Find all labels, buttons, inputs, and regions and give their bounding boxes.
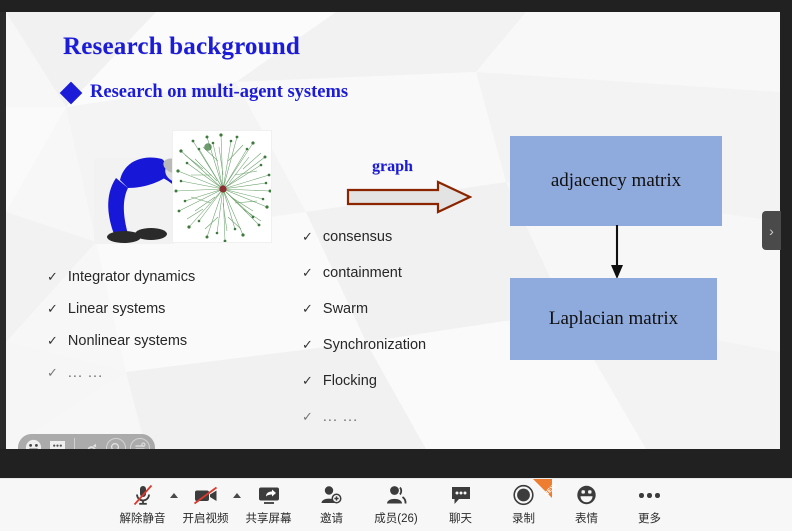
check-icon: ✓	[47, 302, 58, 317]
next-panel-chevron-icon[interactable]: ›	[762, 211, 781, 250]
list-item: ✓ Swarm	[302, 302, 492, 318]
laplacian-matrix-label: Laplacian matrix	[549, 308, 678, 330]
chat-button-label: 聊天	[449, 510, 472, 526]
list-item-label: Integrator dynamics	[68, 270, 195, 286]
list-item-label: ... ...	[68, 366, 103, 382]
adjacency-matrix-box: adjacency matrix	[510, 136, 722, 226]
list-item-label: Flocking	[323, 374, 377, 390]
check-icon: ✓	[302, 230, 313, 245]
check-icon: ✓	[302, 338, 313, 353]
list-item-label: Nonlinear systems	[68, 334, 187, 350]
check-icon: ✓	[302, 410, 313, 425]
shared-screen-slide: Research background Research on multi-ag…	[6, 12, 780, 449]
reactions-button[interactable]: 表情	[555, 484, 618, 526]
more-button[interactable]: 更多	[618, 484, 681, 526]
search-zoom-icon[interactable]	[106, 438, 126, 450]
graph-arrow-label: graph	[372, 158, 413, 176]
list-item-label: Linear systems	[68, 302, 166, 318]
list-item: ✓ Integrator dynamics	[47, 270, 277, 286]
list-item: ✓ ... ...	[302, 410, 492, 426]
participants-button[interactable]: 成员(26)	[363, 484, 429, 526]
window-right-rail	[780, 0, 792, 478]
check-icon: ✓	[47, 366, 58, 381]
graph-block-arrow-icon	[346, 180, 472, 214]
start-video-button[interactable]: 开启视频	[174, 484, 237, 526]
record-icon	[512, 484, 535, 507]
share-screen-icon	[257, 484, 281, 507]
invite-button[interactable]: 邀请	[300, 484, 363, 526]
list-item-label: Synchronization	[323, 338, 426, 354]
downward-arrow-icon	[606, 225, 628, 281]
share-screen-button-label: 共享屏幕	[246, 510, 292, 526]
list-item: ✓ Linear systems	[47, 302, 277, 318]
list-item-label: containment	[323, 266, 402, 282]
list-item: ✓ Flocking	[302, 374, 492, 390]
check-icon: ✓	[47, 334, 58, 349]
participants-button-label: 成员(26)	[374, 510, 417, 526]
mute-button[interactable]: 解除静音	[111, 484, 174, 526]
chat-button[interactable]: 聊天	[429, 484, 492, 526]
list-item: ✓ Nonlinear systems	[47, 334, 277, 350]
camera-off-icon	[193, 484, 219, 507]
page-title: Research background	[63, 33, 300, 61]
annotation-floating-toolbar[interactable]	[18, 434, 155, 449]
more-dots-icon	[639, 484, 660, 507]
reactions-button-label: 表情	[575, 510, 598, 526]
window-top-bar	[0, 0, 792, 12]
emoji-icon	[575, 484, 598, 507]
laplacian-matrix-box: Laplacian matrix	[510, 278, 717, 360]
next-panel-chevron-glyph: ›	[769, 223, 774, 239]
emoji-reaction-icon[interactable]	[23, 438, 43, 450]
list-item: ✓ ... ...	[47, 366, 277, 382]
list-item: ✓ consensus	[302, 230, 492, 246]
microphone-muted-icon	[132, 484, 154, 507]
chat-bubble-icon[interactable]	[47, 438, 67, 450]
invite-person-icon	[320, 484, 343, 507]
zoom-bottom-toolbar: 解除静音 开启视频	[0, 478, 792, 531]
check-icon: ✓	[47, 270, 58, 285]
slide-subheading-label: Research on multi-agent systems	[90, 82, 348, 103]
list-item: ✓ containment	[302, 266, 492, 282]
chat-icon	[450, 484, 472, 507]
list-item-label: ... ...	[323, 410, 358, 426]
participants-icon	[385, 484, 408, 507]
list-item-label: Swarm	[323, 302, 368, 318]
diamond-bullet-icon	[60, 81, 83, 104]
zoom-meeting-window: Research background Research on multi-ag…	[0, 0, 792, 531]
record-button-label: 录制	[512, 510, 535, 526]
record-button[interactable]: NEW 录制	[492, 484, 555, 526]
slide-subheading: Research on multi-agent systems	[63, 82, 348, 103]
start-video-button-label: 开启视频	[183, 510, 229, 526]
mute-button-label: 解除静音	[120, 510, 166, 526]
network-graph-image	[172, 130, 272, 243]
list-item-label: consensus	[323, 230, 392, 246]
middle-checklist: ✓ consensus ✓ containment ✓ Swarm ✓ Sync…	[302, 230, 492, 446]
list-item: ✓ Synchronization	[302, 338, 492, 354]
toolbar-divider	[74, 438, 75, 449]
adjacency-matrix-label: adjacency matrix	[551, 170, 681, 192]
check-icon: ✓	[302, 374, 313, 389]
more-button-label: 更多	[638, 510, 661, 526]
invite-button-label: 邀请	[320, 510, 343, 526]
undo-arrow-icon[interactable]	[82, 438, 102, 450]
share-screen-button[interactable]: 共享屏幕	[237, 484, 300, 526]
check-icon: ✓	[302, 302, 313, 317]
more-options-icon[interactable]	[130, 438, 150, 450]
check-icon: ✓	[302, 266, 313, 281]
left-checklist: ✓ Integrator dynamics ✓ Linear systems ✓…	[47, 270, 277, 398]
meeting-dark-band	[0, 449, 792, 478]
